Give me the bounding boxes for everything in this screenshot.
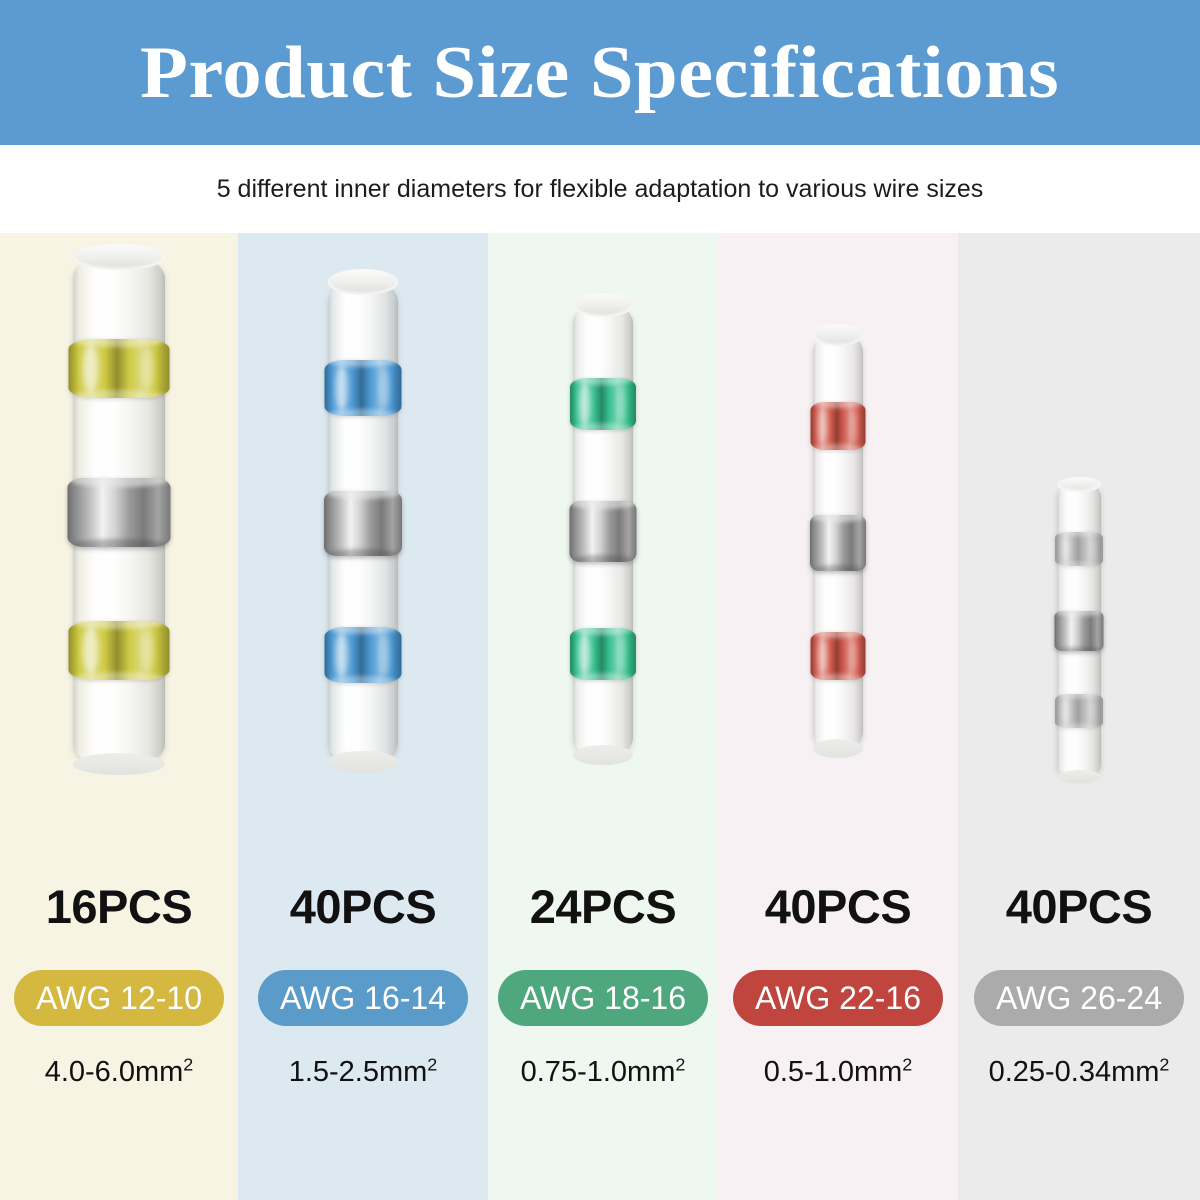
solder-band [324,491,402,556]
tube-bottom-opening [328,751,398,772]
sealant-ring-lower [811,632,866,680]
solder-seal-connector-green [573,303,633,758]
subtitle-band: 5 different inner diameters for flexible… [0,145,1200,233]
solder-seal-connector-red [813,333,863,751]
tube-bottom-opening [1057,770,1101,783]
sealant-ring-upper [811,402,866,450]
solder-seal-connector-clear [1057,483,1101,778]
spec-columns: 16PCS AWG 12-10 4.0-6.0mm2 40PCS AWG 16-… [0,233,1200,1200]
sealant-ring-upper [69,339,170,398]
sealant-ring-upper [570,378,636,430]
solder-band [1055,611,1104,651]
connector-illustration-1 [238,233,488,873]
sealant-ring-lower [570,628,636,680]
connector-illustration-3 [718,233,958,873]
solder-band [810,515,866,571]
spec-column-awg-12-10: 16PCS AWG 12-10 4.0-6.0mm2 [0,233,238,1200]
cross-section-area-label: 1.5-2.5mm2 [289,1056,438,1089]
awg-badge: AWG 12-10 [14,970,224,1026]
solder-seal-connector-yellow [73,255,165,767]
cross-section-area-label: 0.5-1.0mm2 [764,1056,913,1089]
tube-top-opening [328,269,398,294]
spec-column-awg-22-16: 40PCS AWG 22-16 0.5-1.0mm2 [718,233,958,1200]
tube-bottom-opening [73,753,165,776]
solder-seal-connector-blue [328,280,398,765]
tube-bottom-opening [573,745,633,765]
connector-illustration-0 [0,233,238,873]
solder-band [68,478,171,547]
product-size-specifications-page: Product Size Specifications 5 different … [0,0,1200,1200]
solder-band [570,501,637,562]
subtitle-text: 5 different inner diameters for flexible… [217,175,984,204]
piece-count-label: 40PCS [765,883,911,930]
cross-section-area-label: 0.75-1.0mm2 [521,1056,686,1089]
spec-column-awg-26-24: 40PCS AWG 26-24 0.25-0.34mm2 [958,233,1200,1200]
sealant-ring-lower [1055,694,1103,728]
awg-badge: AWG 16-14 [258,970,468,1026]
tube-bottom-opening [813,739,863,757]
piece-count-label: 24PCS [530,883,676,930]
awg-badge: AWG 26-24 [974,970,1184,1026]
cross-section-area-label: 0.25-0.34mm2 [989,1056,1170,1089]
awg-badge: AWG 22-16 [733,970,943,1026]
cross-section-area-label: 4.0-6.0mm2 [45,1056,194,1089]
sealant-ring-upper [1055,532,1103,566]
piece-count-label: 40PCS [1006,883,1152,930]
piece-count-label: 40PCS [290,883,436,930]
tube-top-opening [73,244,165,271]
awg-badge: AWG 18-16 [498,970,708,1026]
piece-count-label: 16PCS [46,883,192,930]
sealant-ring-lower [69,621,170,680]
spec-column-awg-16-14: 40PCS AWG 16-14 1.5-2.5mm2 [238,233,488,1200]
header-band: Product Size Specifications [0,0,1200,145]
tube-top-opening [573,293,633,317]
sealant-ring-upper [325,360,402,416]
connector-illustration-2 [488,233,718,873]
page-title: Product Size Specifications [140,36,1059,110]
spec-column-awg-18-16: 24PCS AWG 18-16 0.75-1.0mm2 [488,233,718,1200]
sealant-ring-lower [325,627,402,683]
tube-top-opening [813,324,863,346]
connector-illustration-4 [958,233,1200,873]
